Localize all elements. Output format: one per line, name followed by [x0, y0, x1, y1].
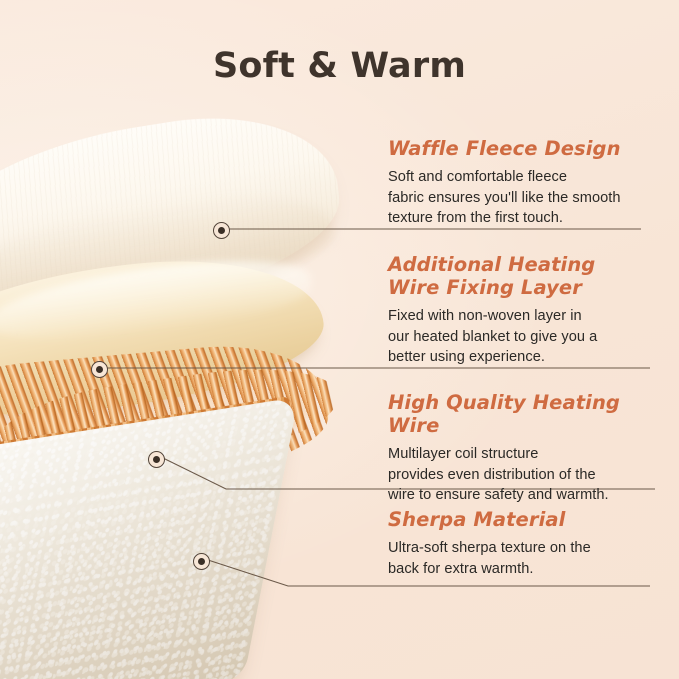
- feature-body: Ultra-soft sherpa texture on the back fo…: [388, 538, 658, 579]
- feature-block-sherpa-material: Sherpa Material Ultra-soft sherpa textur…: [388, 508, 658, 579]
- infographic-canvas: Soft & Warm Waffle Fleece Design Soft an…: [0, 0, 679, 679]
- feature-body: Multilayer coil structure provides even …: [388, 444, 658, 506]
- feature-heading: Additional Heating Wire Fixing Layer: [388, 253, 658, 299]
- feature-block-high-quality-heating-wire: High Quality Heating Wire Multilayer coi…: [388, 391, 658, 506]
- feature-body: Fixed with non-woven layer in our heated…: [388, 306, 658, 368]
- feature-heading: Waffle Fleece Design: [388, 137, 658, 160]
- callout-marker-4[interactable]: [193, 553, 210, 570]
- callout-marker-1[interactable]: [213, 222, 230, 239]
- feature-body: Soft and comfortable fleece fabric ensur…: [388, 167, 658, 229]
- feature-block-waffle-fleece-design: Waffle Fleece Design Soft and comfortabl…: [388, 137, 658, 229]
- callout-marker-3[interactable]: [148, 451, 165, 468]
- page-title: Soft & Warm: [0, 46, 679, 86]
- feature-heading: High Quality Heating Wire: [388, 391, 658, 437]
- feature-heading: Sherpa Material: [388, 508, 658, 531]
- feature-block-additional-heating-wire-fixing-layer: Additional Heating Wire Fixing Layer Fix…: [388, 253, 658, 368]
- callout-marker-2[interactable]: [91, 361, 108, 378]
